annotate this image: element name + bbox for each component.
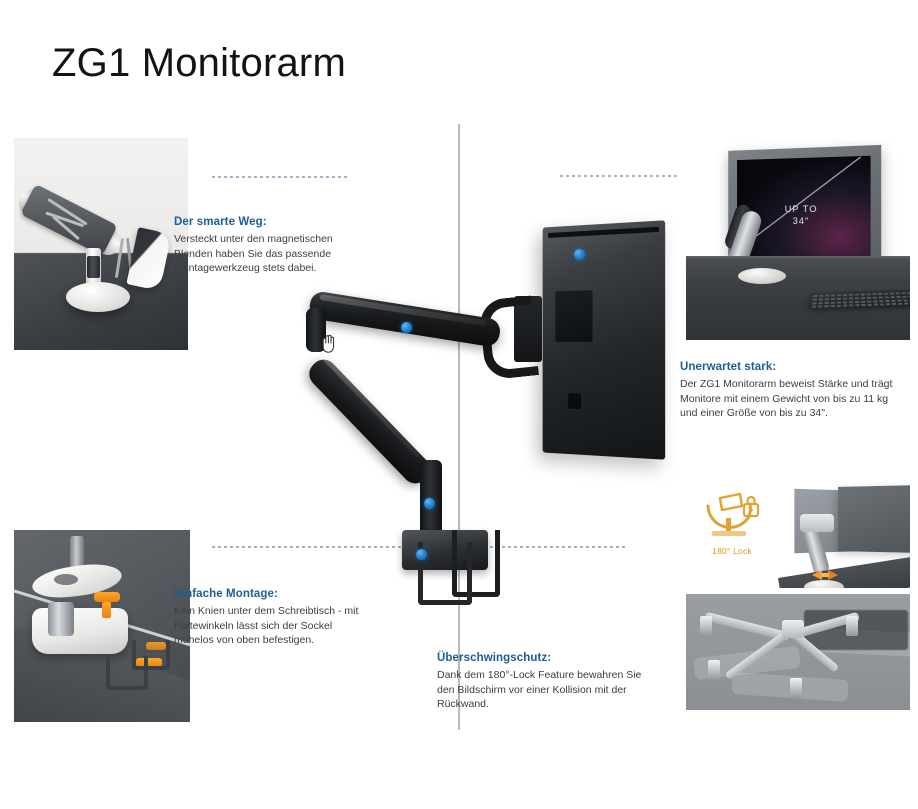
lift-joint-hotspot[interactable] (424, 498, 435, 509)
callout-body: Dank dem 180°-Lock Feature bewahren Sie … (437, 668, 652, 712)
mounting-bracket (132, 640, 170, 670)
clamp-exploded-view-photo (14, 530, 190, 722)
lock-illustration-photo: 180° Lock (686, 482, 910, 588)
monitor-bezel: UP TO 34" (728, 145, 881, 273)
callout-heading: Der smarte Weg: (174, 216, 350, 228)
top-down-rotation-photo (686, 594, 910, 710)
arm-joint-hub (800, 514, 834, 532)
monitor-port (568, 393, 581, 409)
leader-line-smart-way (212, 176, 350, 178)
mounting-bracket-top-view (708, 660, 720, 680)
callout-body: Der ZG1 Monitorarm beweist Stärke und tr… (680, 377, 896, 421)
arm-base-foot (804, 580, 844, 588)
leader-line-strong (560, 175, 680, 177)
callout-heading: Überschwingschutz: (437, 652, 652, 664)
base-bushing (48, 602, 74, 636)
mounting-bracket-top-view (846, 616, 858, 636)
lower-arm-segment (304, 354, 435, 489)
lock-label: 180° Lock (696, 546, 768, 556)
mounting-bracket-top-view (700, 616, 712, 636)
diagonal-measure-line (744, 157, 861, 246)
monitor-mount-hotspot[interactable] (574, 249, 585, 260)
arm-post-collar (87, 256, 100, 278)
orange-screw-icon (102, 602, 111, 618)
monitor-position-front (838, 485, 910, 553)
plate-hole (54, 574, 78, 585)
magnetic-cover-tool-storage-photo (14, 138, 188, 350)
zg1-monitor-arm-render (296, 230, 626, 600)
upper-arm-hotspot[interactable] (401, 322, 412, 333)
vesa-mount-plate (555, 290, 592, 342)
mounting-bracket-top-view (790, 678, 802, 698)
monitor-on-desk-photo: UP TO 34" (686, 140, 910, 340)
rotation-lock-icon (700, 492, 762, 544)
clamp-base-hotspot[interactable] (416, 549, 427, 560)
callout-swing-protection: Überschwingschutz: Dank dem 180°-Lock Fe… (437, 652, 652, 712)
grab-hand-cursor (320, 334, 337, 353)
monitor-screen: UP TO 34" (737, 156, 871, 260)
clamp-base-body (32, 608, 128, 654)
callout-body: Kein Knien unter dem Schreibtisch - mit … (174, 604, 364, 648)
infographic-canvas: ZG1 Monitorarm Der smarte Weg: Versteckt… (0, 0, 918, 809)
page-title: ZG1 Monitorarm (52, 41, 346, 86)
orange-knob-icon (94, 592, 120, 602)
monitor-rear (543, 220, 666, 459)
callout-heading: Unerwartet stark: (680, 361, 896, 373)
arm-base-foot (738, 268, 786, 284)
keyboard (808, 290, 910, 309)
monitor-top-edge (548, 227, 659, 238)
arm-base-grommet (66, 282, 130, 312)
callout-unexpectedly-strong: Unerwartet stark: Der ZG1 Monitorarm bew… (680, 361, 896, 421)
arm-joint-hub-top-view (782, 620, 804, 638)
